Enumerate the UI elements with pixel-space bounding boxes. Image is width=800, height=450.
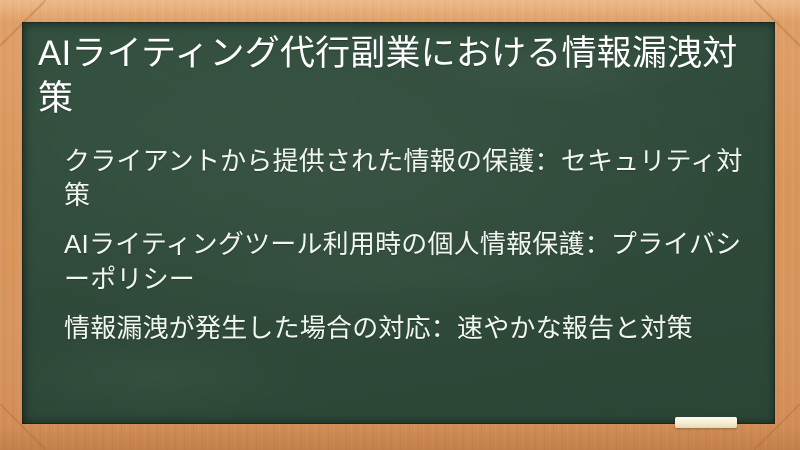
slide-content: AIライティング代行副業における情報漏洩対策 クライアントから提供された情報の保… xyxy=(22,22,775,424)
slide-point-3: 情報漏洩が発生した場合の対応：速やかな報告と対策 xyxy=(64,311,743,346)
slide-point-2: AIライティングツール利用時の個人情報保護：プライバシーポリシー xyxy=(64,227,743,297)
frame-top-highlight xyxy=(0,0,800,22)
slide-title: AIライティング代行副業における情報漏洩対策 xyxy=(32,32,757,122)
chalkboard-surface: AIライティング代行副業における情報漏洩対策 クライアントから提供された情報の保… xyxy=(22,22,775,424)
chalk-stick-icon xyxy=(675,417,737,428)
slide-point-1: クライアントから提供された情報の保護：セキュリティ対策 xyxy=(64,144,743,214)
chalkboard-frame: AIライティング代行副業における情報漏洩対策 クライアントから提供された情報の保… xyxy=(0,0,800,450)
slide-point-list: クライアントから提供された情報の保護：セキュリティ対策 AIライティングツール利… xyxy=(32,144,757,346)
